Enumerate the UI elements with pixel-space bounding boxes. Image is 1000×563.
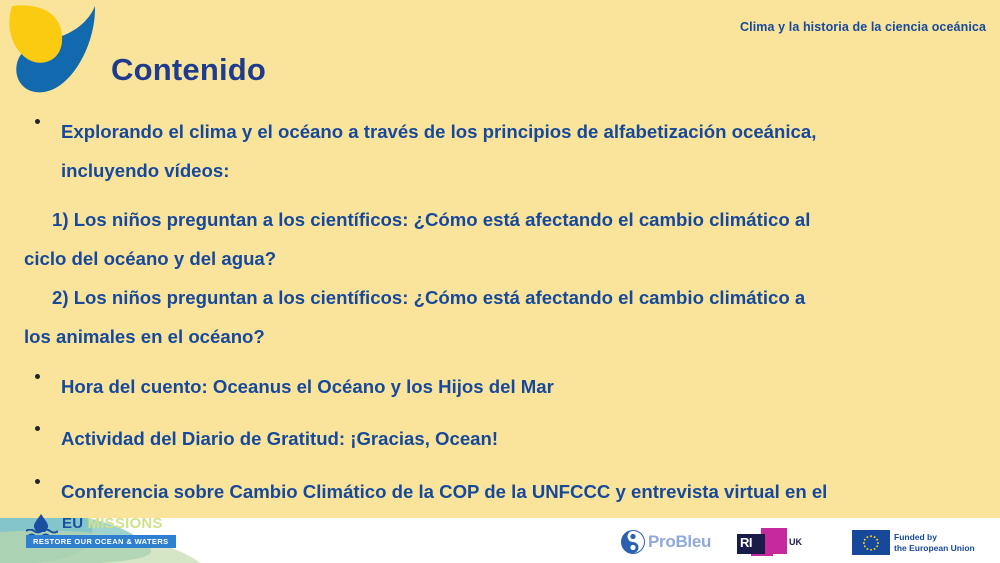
- eu-funding-text: Funded by the European Union: [894, 532, 975, 553]
- uk-label: UK: [789, 538, 802, 547]
- probleu-swirl-icon: [620, 529, 646, 555]
- probleu-wordmark: ProBleu: [648, 532, 711, 552]
- ri-label: RI: [740, 535, 752, 550]
- eu-funding-line2: the European Union: [894, 543, 975, 554]
- eu-flag-icon: [852, 530, 890, 555]
- bullet3-line1: Actividad del Diario de Gratitud: ¡Graci…: [0, 419, 990, 458]
- header-kicker: Clima y la historia de la ciencia oceáni…: [740, 20, 986, 34]
- eu-funding-logo: Funded by the European Union: [852, 529, 994, 557]
- eu-missions-eu: EU: [62, 515, 88, 532]
- ri-uk-navy-block: RI: [737, 534, 765, 554]
- slide-canvas: Clima y la historia de la ciencia oceáni…: [0, 0, 1000, 563]
- bullet1-line1: Explorando el clima y el océano a través…: [0, 112, 990, 151]
- bullet-dot-icon: [35, 479, 40, 484]
- page-title: Contenido: [111, 54, 266, 85]
- list-item: Hora del cuento: Oceanus el Océano y los…: [0, 367, 990, 406]
- bullet-dot-icon: [35, 374, 40, 379]
- ocean-leaf-logo-icon: [0, 0, 104, 100]
- eu-missions-missions: MISSIONS: [88, 515, 163, 532]
- item2-line2: los animales en el océano?: [0, 317, 990, 356]
- item1-line1: 1) Los niños preguntan a los científicos…: [0, 200, 990, 239]
- eu-missions-wordmark: EU MISSIONS: [62, 515, 163, 532]
- bullet-dot-icon: [35, 426, 40, 431]
- eu-missions-logo: EU MISSIONS RESTORE OUR OCEAN & WATERS: [14, 510, 264, 562]
- item1-line2: ciclo del océano y del agua?: [0, 239, 990, 278]
- bullet-dot-icon: [35, 119, 40, 124]
- list-item: 1) Los niños preguntan a los científicos…: [0, 200, 990, 278]
- bullet1-line2: incluyendo vídeos:: [0, 151, 990, 190]
- list-item: Actividad del Diario de Gratitud: ¡Graci…: [0, 419, 990, 458]
- eu-funding-line1: Funded by: [894, 532, 975, 543]
- ri-uk-logo: RI UK: [737, 528, 799, 558]
- list-item: Explorando el clima y el océano a través…: [0, 112, 990, 190]
- bullet4-line1: Conferencia sobre Cambio Climático de la…: [0, 472, 990, 511]
- item2-line1: 2) Los niños preguntan a los científicos…: [0, 278, 990, 317]
- list-item: 2) Los niños preguntan a los científicos…: [0, 278, 990, 356]
- probleu-logo: ProBleu: [620, 528, 730, 558]
- eu-missions-tagline: RESTORE OUR OCEAN & WATERS: [26, 535, 176, 548]
- bullet2-line1: Hora del cuento: Oceanus el Océano y los…: [0, 367, 990, 406]
